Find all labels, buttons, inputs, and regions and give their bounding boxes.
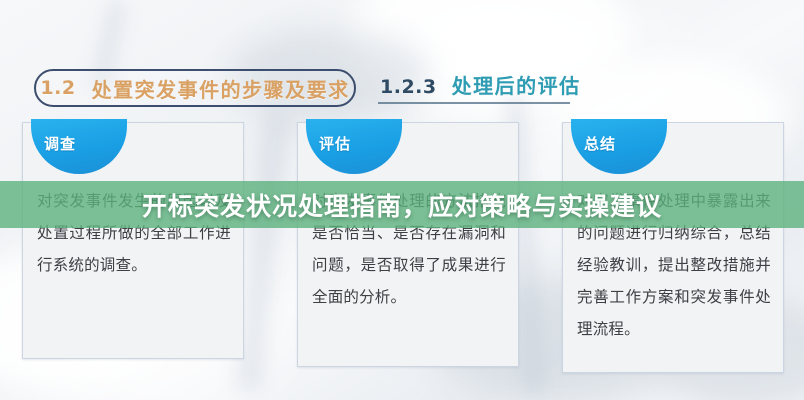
card-badge-label: 评估 — [319, 133, 351, 160]
card-badge-label: 总结 — [584, 133, 616, 160]
section-header-right-number: 1.2.3 — [380, 76, 437, 98]
slide-canvas: 1.2 处置突发事件的步骤及要求 1.2.3 处理后的评估 调查 对突发事件发生… — [0, 0, 804, 400]
overlay-title: 开标突发状况处理指南，应对策略与实操建议 — [0, 181, 804, 228]
content-card: 调查 对突发事件发生的原因以及处置过程所做的全部工作进行系统的调查。 — [22, 122, 244, 359]
card-badge: 评估 — [306, 119, 402, 174]
section-header-right-underline — [378, 102, 570, 104]
card-badge: 调查 — [31, 119, 127, 174]
section-header-right: 1.2.3 处理后的评估 — [378, 70, 585, 104]
card-badge: 总结 — [571, 119, 667, 174]
section-header-right-row: 1.2.3 处理后的评估 — [378, 70, 585, 102]
section-header-left: 1.2 处置突发事件的步骤及要求 — [34, 69, 356, 107]
section-header-right-title: 处理后的评估 — [452, 70, 581, 99]
section-header-left-number: 1.2 — [40, 77, 75, 99]
card-badge-label: 调查 — [44, 133, 76, 160]
section-header-left-title: 处置突发事件的步骤及要求 — [92, 74, 350, 103]
content-card: 总结 对突发事件处理中暴露出来的问题进行归纳综合，总结经验教训，提出整改措施并完… — [562, 122, 784, 373]
content-card: 评估 对突发事件处理的方法措施是否恰当、是否存在漏洞和问题，是否取得了成果进行全… — [297, 122, 519, 367]
